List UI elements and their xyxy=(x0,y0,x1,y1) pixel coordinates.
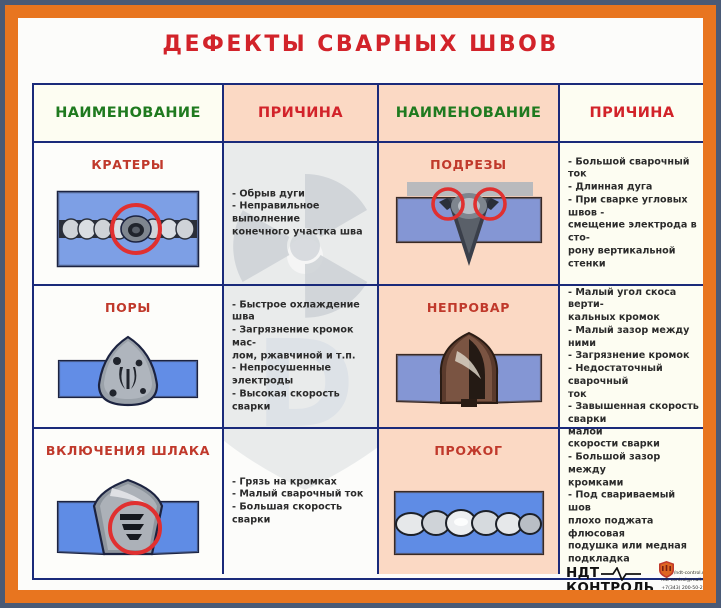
header-cell-cause-left: ПРИЧИНА xyxy=(224,85,379,141)
cause-cell-burn-through: - Большой ток при малой скорости сварки … xyxy=(560,429,703,574)
cause-line: - Длинная дуга xyxy=(568,182,700,195)
cause-line: - Недостаточный сварочный xyxy=(568,363,700,389)
logo-line-ndt: НДТ xyxy=(566,567,599,581)
cause-line: - Большой зазор между xyxy=(568,452,700,478)
defect-cell-craters: КРАТЕРЫ xyxy=(34,143,224,284)
defect-name: ПРОЖОГ xyxy=(379,443,558,458)
table-header-row: НАИМЕНОВАНИЕ ПРИЧИНА НАИМЕНОВАНИЕ ПРИЧИН… xyxy=(34,85,703,143)
defect-cell-pores: ПОРЫ xyxy=(34,286,224,427)
weld-burn-through-diagram xyxy=(389,486,549,562)
cause-line: - Непросушенные электроды xyxy=(232,363,373,389)
defect-cell-undercuts: ПОДРЕЗЫ xyxy=(379,143,560,284)
defect-cell-slag-inclusions: ВКЛЮЧЕНИЯ ШЛАКА xyxy=(34,429,224,574)
weld-bead-crater-diagram xyxy=(53,186,203,272)
cause-list: - Большой ток при малой скорости сварки … xyxy=(568,429,700,566)
header-label: ПРИЧИНА xyxy=(560,105,703,121)
cause-line: - Завышенная скорость xyxy=(568,401,700,414)
cause-line: сварки xyxy=(568,414,700,427)
cause-line: - Неправильное выполнение xyxy=(232,201,373,227)
shield-crest-icon xyxy=(659,561,674,578)
pulse-waveform-icon xyxy=(601,567,641,581)
table-row: КРАТЕРЫ xyxy=(34,143,703,286)
cause-list: - Большой сварочный ток - Длинная дуга -… xyxy=(568,156,700,271)
cause-line: - Под свариваемый шов xyxy=(568,490,700,516)
defect-name: КРАТЕРЫ xyxy=(34,157,222,172)
cause-line: - Высокая скорость сварки xyxy=(232,388,373,414)
cause-cell-undercuts: - Большой сварочный ток - Длинная дуга -… xyxy=(560,143,703,284)
defect-name: ВКЛЮЧЕНИЯ ШЛАКА xyxy=(34,443,222,458)
poster-inner-border: D ДЕФЕКТЫ СВАРНЫХ ШВОВ НАИМЕНОВАНИЕ ПРИЧ… xyxy=(10,10,711,598)
contact-email[interactable]: ndt-control@mail.ru xyxy=(661,577,703,584)
defect-name: ПОДРЕЗЫ xyxy=(379,157,558,172)
logo-line-kontrol: КОНТРОЛЬ xyxy=(566,582,654,590)
header-label: ПРИЧИНА xyxy=(224,105,377,121)
cause-line: - Большой ток при малой xyxy=(568,429,700,439)
cause-line: - Большая скорость сварки xyxy=(232,502,373,528)
cause-line: - Быстрое охлаждение шва xyxy=(232,299,373,325)
weld-undercut-diagram xyxy=(389,176,549,272)
cause-list: - Обрыв дуги - Неправильное выполнение к… xyxy=(232,188,373,239)
table-row: ПОРЫ xyxy=(34,286,703,429)
cause-line: - Малый сварочный ток xyxy=(232,489,373,502)
cause-cell-slag-inclusions: - Грязь на кромках - Малый сварочный ток… xyxy=(224,429,379,574)
defect-name: ПОРЫ xyxy=(34,300,222,315)
cause-line: кромками xyxy=(568,477,700,490)
weld-lack-of-fusion-diagram xyxy=(389,321,549,415)
cause-line: - Малый угол скоса верти- xyxy=(568,286,700,312)
cause-line: ток xyxy=(568,388,700,401)
cause-line: - Грязь на кромках xyxy=(232,476,373,489)
weld-slag-inclusion-diagram xyxy=(52,466,204,562)
cause-line: рону вертикальной стенки xyxy=(568,245,700,271)
table-row: ВКЛЮЧЕНИЯ ШЛАКА xyxy=(34,429,703,574)
cause-line: - Загрязнение кромок xyxy=(568,350,700,363)
header-cell-name-right: НАИМЕНОВАНИЕ xyxy=(379,85,560,141)
poster-sheet: D ДЕФЕКТЫ СВАРНЫХ ШВОВ НАИМЕНОВАНИЕ ПРИЧ… xyxy=(18,18,703,590)
cause-line: - Обрыв дуги xyxy=(232,188,373,201)
defect-name: НЕПРОВАР xyxy=(379,300,558,315)
cause-cell-pores: - Быстрое охлаждение шва - Загрязнение к… xyxy=(224,286,379,427)
cause-list: - Грязь на кромках - Малый сварочный ток… xyxy=(232,476,373,527)
cause-line: подушка или медная xyxy=(568,541,700,554)
cause-line: скорости сварки xyxy=(568,439,700,452)
header-cell-name-left: НАИМЕНОВАНИЕ xyxy=(34,85,224,141)
ndt-control-logo: НДТ КОНТРОЛЬ xyxy=(566,567,654,590)
cause-list: - Быстрое охлаждение шва - Загрязнение к… xyxy=(232,299,373,414)
cause-cell-craters: - Обрыв дуги - Неправильное выполнение к… xyxy=(224,143,379,284)
company-logo-block: НДТ КОНТРОЛЬ http://ndt-control.ru ndt-c… xyxy=(566,559,703,590)
cause-cell-lack-of-fusion: - Малый угол скоса верти- кальных кромок… xyxy=(560,286,703,427)
cause-line: плохо поджата флюсовая xyxy=(568,515,700,541)
cause-line: кальных кромок xyxy=(568,312,700,325)
cause-line: - Большой сварочный ток xyxy=(568,156,700,182)
cause-line: - Малый зазор между ними xyxy=(568,325,700,351)
header-cell-cause-right: ПРИЧИНА xyxy=(560,85,703,141)
header-label: НАИМЕНОВАНИЕ xyxy=(34,105,222,121)
cause-line: смещение электрода в сто- xyxy=(568,220,700,246)
cause-line: - Загрязнение кромок мас- xyxy=(232,325,373,351)
cause-list: - Малый угол скоса верти- кальных кромок… xyxy=(568,286,700,426)
header-label: НАИМЕНОВАНИЕ xyxy=(379,105,558,121)
poster-frame: D ДЕФЕКТЫ СВАРНЫХ ШВОВ НАИМЕНОВАНИЕ ПРИЧ… xyxy=(0,0,721,608)
defect-cell-burn-through: ПРОЖОГ xyxy=(379,429,560,574)
cause-line: лом, ржавчиной и т.п. xyxy=(232,350,373,363)
page-title: ДЕФЕКТЫ СВАРНЫХ ШВОВ xyxy=(18,32,703,57)
cause-line: - При сварке угловых швов - xyxy=(568,194,700,220)
defects-table: НАИМЕНОВАНИЕ ПРИЧИНА НАИМЕНОВАНИЕ ПРИЧИН… xyxy=(32,83,703,580)
contact-phone: +7(343) 200-50-22 xyxy=(661,585,703,590)
weld-porosity-diagram xyxy=(53,323,203,415)
cause-line: конечного участка шва xyxy=(232,226,373,239)
defect-cell-lack-of-fusion: НЕПРОВАР xyxy=(379,286,560,427)
